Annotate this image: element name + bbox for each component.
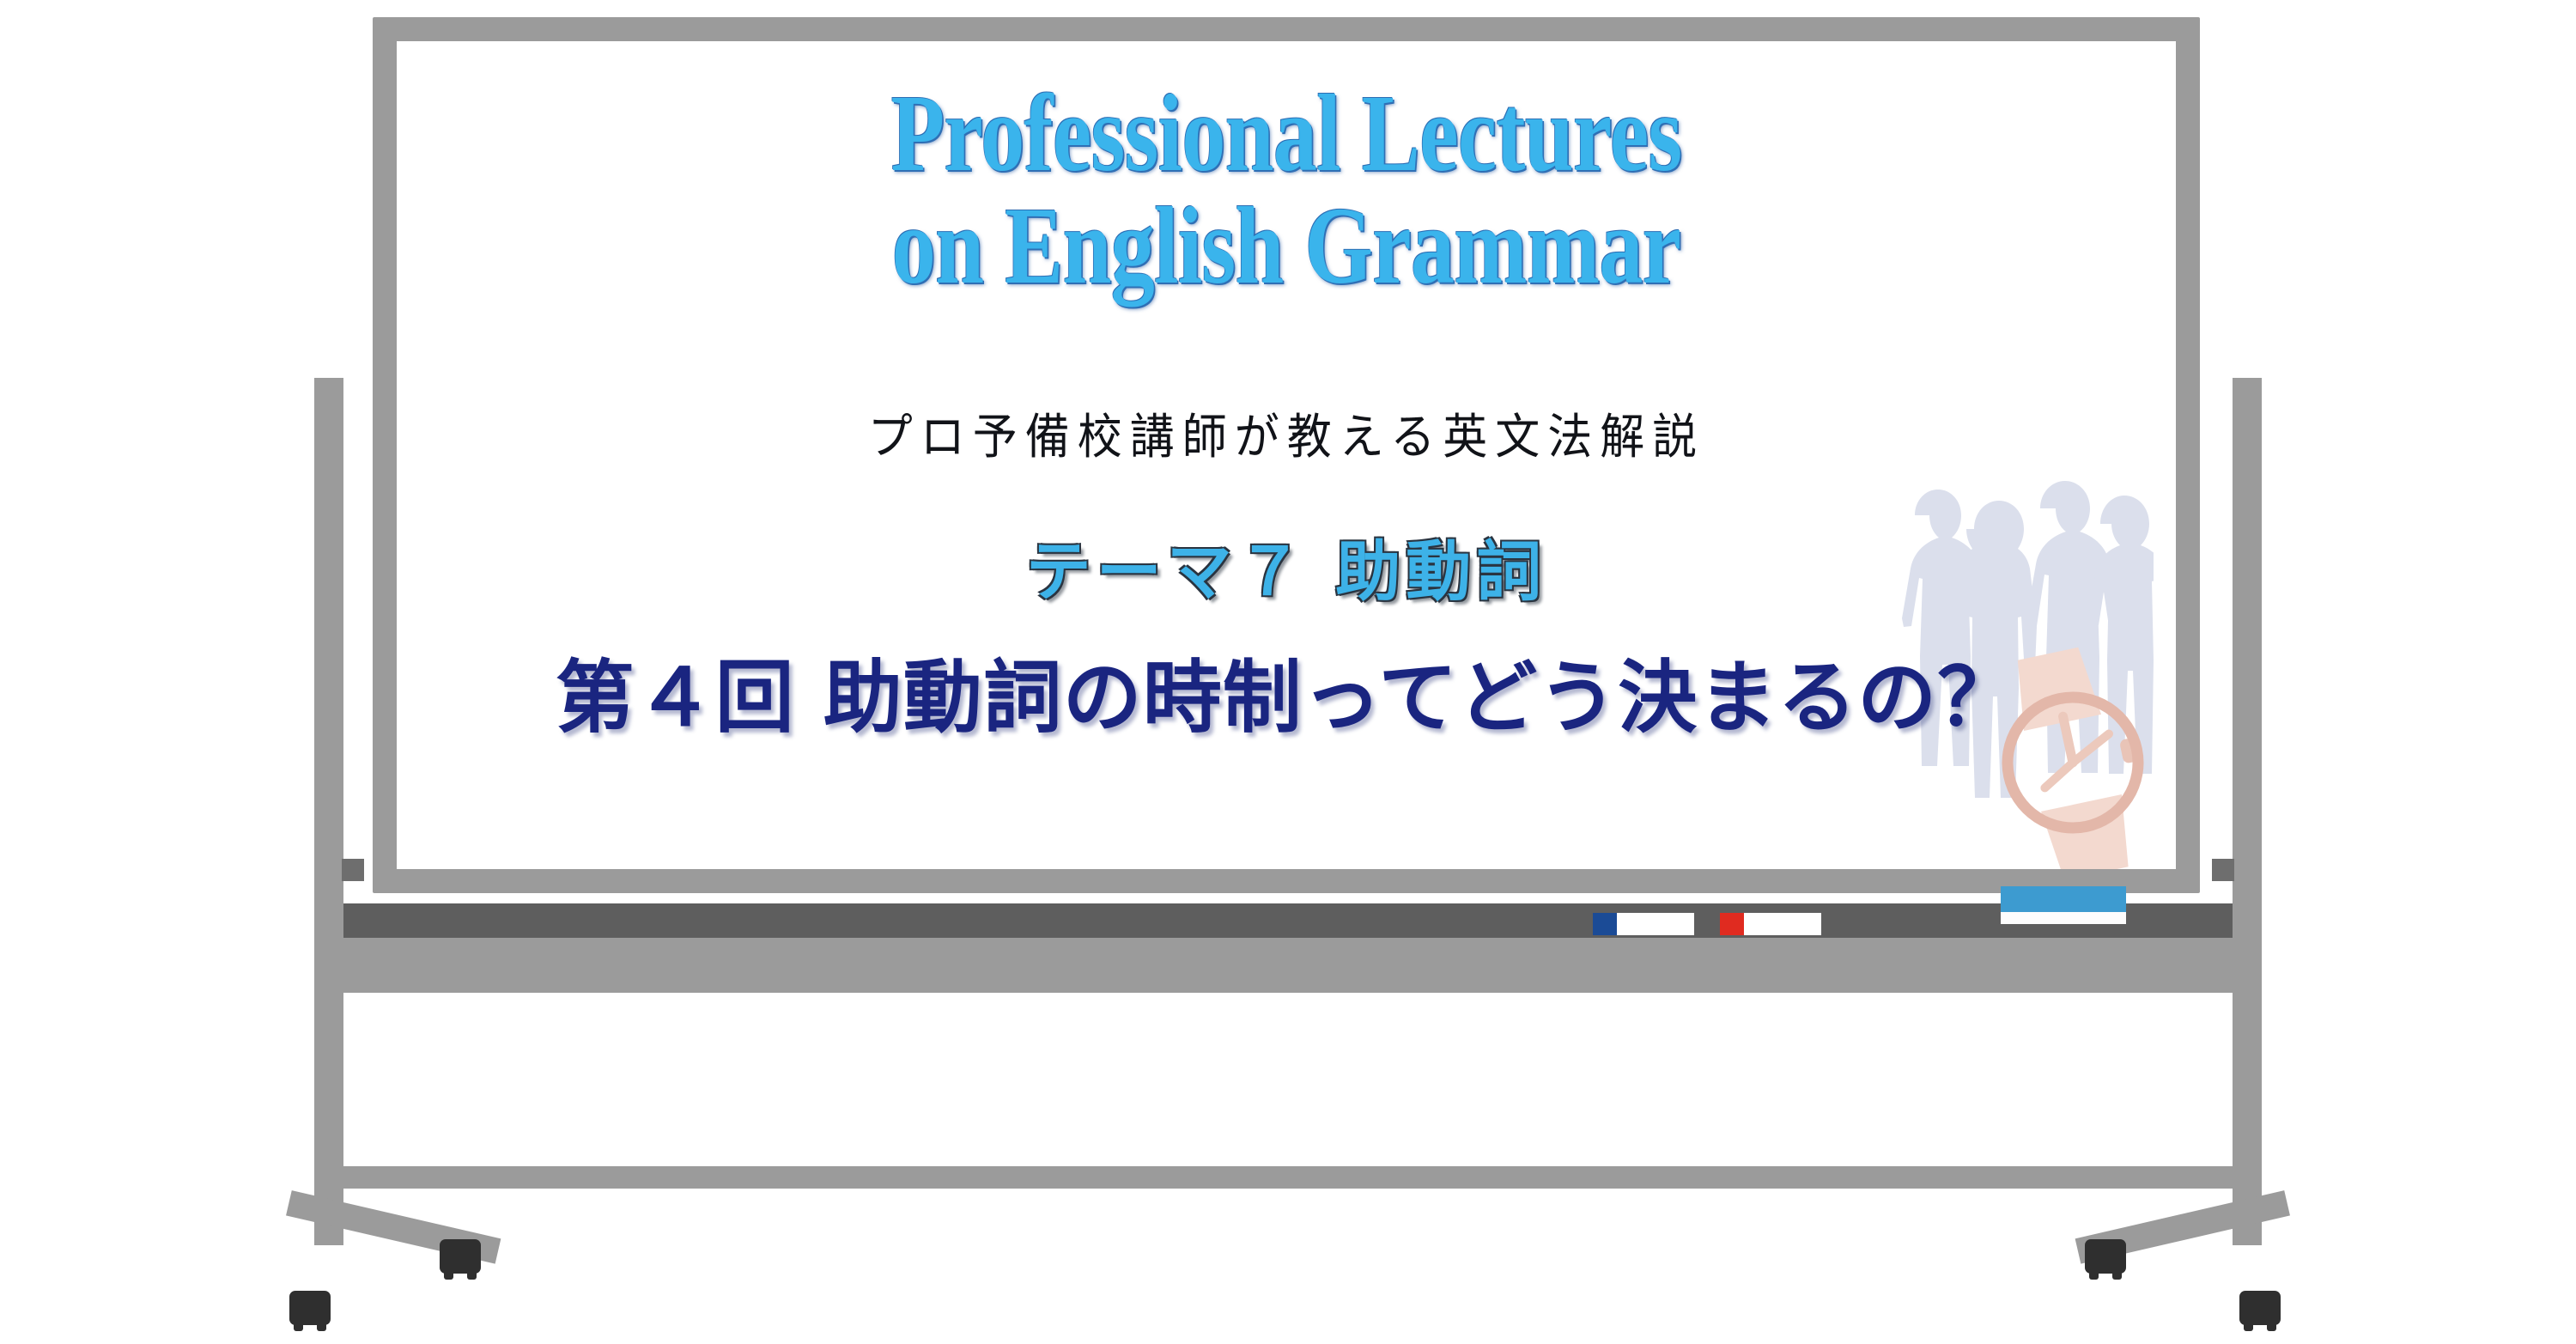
page-subtitle: プロ予備校講師が教える英文法解説	[397, 398, 2176, 467]
whiteboard-eraser[interactable]	[2001, 886, 2126, 924]
stand-post-right	[2233, 378, 2262, 1245]
pivot-knob-left[interactable]	[342, 859, 364, 881]
whiteboard-frame: Professional Lectures on English Grammar…	[373, 17, 2200, 893]
red-marker-body	[1744, 913, 1821, 935]
pivot-knob-right[interactable]	[2212, 859, 2234, 881]
marker-tray-lip	[343, 938, 2233, 970]
stand-crossbar-lower	[343, 1166, 2233, 1189]
marker-tray	[343, 903, 2233, 938]
whiteboard-surface: Professional Lectures on English Grammar…	[397, 41, 2176, 869]
blue-marker-cap	[1593, 913, 1617, 935]
page-title: Professional Lectures on English Grammar	[574, 77, 1998, 301]
eraser-top	[2001, 886, 2126, 912]
episode-headline: 第４回 助動詞の時制ってどう決まるの？	[397, 634, 2176, 748]
eraser-felt	[2001, 912, 2126, 924]
blue-marker-body	[1617, 913, 1694, 935]
stand-crossbar-upper	[343, 970, 2233, 993]
caster-wheel-back-right	[2085, 1239, 2126, 1274]
red-marker-cap	[1720, 913, 1744, 935]
red-marker[interactable]	[1720, 913, 1821, 935]
stand-post-left	[314, 378, 343, 1245]
caster-wheel-front-left	[289, 1291, 331, 1325]
whiteboard-scene: Professional Lectures on English Grammar…	[0, 0, 2576, 1344]
caster-wheel-front-right	[2239, 1291, 2281, 1325]
caster-wheel-back-left	[440, 1239, 481, 1274]
theme-label: テーマ７ 助動詞	[397, 519, 2176, 613]
blue-marker[interactable]	[1593, 913, 1694, 935]
